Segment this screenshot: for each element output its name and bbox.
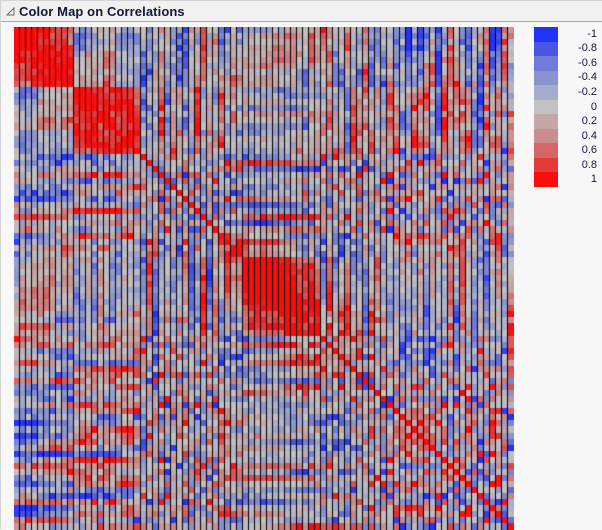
legend-label: -0.4	[558, 71, 600, 86]
color-map-panel: Color Map on Correlations -1-0.8-0.6-0.4…	[0, 0, 602, 529]
legend-swatch	[534, 56, 558, 71]
legend-swatch	[534, 85, 558, 100]
page-title: Color Map on Correlations	[19, 5, 185, 18]
legend-label: 0.2	[558, 114, 600, 129]
legend-label: 1	[558, 172, 600, 187]
legend-swatch	[534, 129, 558, 144]
correlation-heatmap[interactable]	[14, 27, 514, 530]
legend-swatch	[534, 143, 558, 158]
color-legend: -1-0.8-0.6-0.4-0.200.20.40.60.81	[534, 27, 600, 197]
legend-label: -0.6	[558, 56, 600, 71]
plot-area: -1-0.8-0.6-0.4-0.200.20.40.60.81	[1, 22, 602, 530]
legend-swatch	[534, 100, 558, 115]
legend-swatch-column	[534, 27, 558, 187]
legend-label: 0.6	[558, 143, 600, 158]
triangle-collapse-icon[interactable]	[5, 6, 16, 17]
legend-label: 0.4	[558, 129, 600, 144]
legend-swatch	[534, 27, 558, 42]
legend-swatch	[534, 71, 558, 86]
legend-label: 0	[558, 100, 600, 115]
legend-swatch	[534, 114, 558, 129]
legend-label: 0.8	[558, 158, 600, 173]
legend-swatch	[534, 42, 558, 57]
legend-label: -0.2	[558, 85, 600, 100]
legend-label: -1	[558, 27, 600, 42]
heatmap-canvas[interactable]	[14, 27, 514, 530]
panel-titlebar[interactable]: Color Map on Correlations	[1, 1, 602, 22]
legend-label: -0.8	[558, 42, 600, 57]
legend-swatch	[534, 172, 558, 187]
legend-swatch	[534, 158, 558, 173]
legend-label-column: -1-0.8-0.6-0.4-0.200.20.40.60.81	[558, 27, 600, 187]
